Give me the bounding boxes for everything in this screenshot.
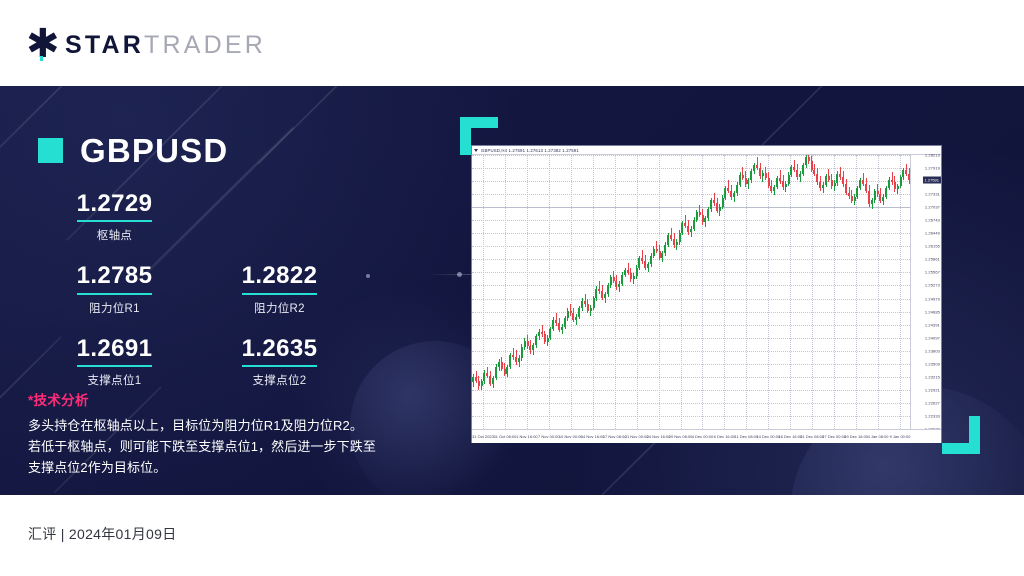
candle [765,155,767,429]
candle [739,155,741,429]
time-axis-tick: 31 Oct 08:00 [493,434,516,439]
analysis-line: 多头持仓在枢轴点以上，目标位为阻力位R1及阻力位R2。 [28,415,408,436]
brand-logo[interactable]: ✱ STARTRADER [26,30,266,60]
candle [805,155,807,429]
star-asterisk-icon: ✱ [26,30,56,60]
level-label: 阻力位R1 [38,300,191,316]
candle [879,155,881,429]
candle [581,155,583,429]
candle [747,155,749,429]
candle [564,155,566,429]
time-axis-tick: 29 Dec 16:00 [844,434,868,439]
square-marker-icon [38,138,63,163]
candle [868,155,870,429]
brand-name-light: TRADER [144,31,266,59]
candle [590,155,592,429]
page-title: GBPUSD [80,134,228,167]
candle [541,155,543,429]
current-price-tag: 1.27591 [923,176,941,183]
candle [836,155,838,429]
candle [475,155,477,429]
candle [653,155,655,429]
candle [839,155,841,429]
candle [641,155,643,429]
candle [762,155,764,429]
price-axis-tick: 1.26155 [925,244,940,249]
time-axis-tick: 10 Nov 00:00 [559,434,583,439]
candle [811,155,813,429]
price-axis-tick: 1.27919 [925,166,940,171]
time-axis-tick: 21 Nov 00:00 [625,434,649,439]
candle [831,155,833,429]
price-axis-tick: 1.28213 [925,153,940,158]
technical-analysis: *技术分析 多头持仓在枢轴点以上，目标位为阻力位R1及阻力位R2。 若低于枢轴点… [28,389,408,478]
candle [722,155,724,429]
price-axis-tick: 1.25567 [925,270,940,275]
candle [813,155,815,429]
price-axis-tick: 1.23509 [925,361,940,366]
level-resistance-2: 1.2822 阻力位R2 [203,263,356,315]
candle [871,155,873,429]
price-axis-tick: 1.26743 [925,218,940,223]
level-label: 支撑点位2 [203,372,356,388]
footer-bar: 汇评 | 2024年01月09日 [0,495,1024,576]
price-axis-tick: 1.23215 [925,374,940,379]
time-axis-tick: 29 Nov 08:00 [669,434,693,439]
candle [512,155,514,429]
candle [578,155,580,429]
candle [894,155,896,429]
price-axis-tick: 1.26449 [925,231,940,236]
time-axis[interactable]: 31 Oct 202331 Oct 08:001 Nov 16:007 Nov … [472,429,941,443]
candle [808,155,810,429]
candle [900,155,902,429]
level-value: 1.2822 [242,263,318,294]
price-axis-tick: 1.27331 [925,192,940,197]
candle [851,155,853,429]
price-axis-tick: 1.22921 [925,387,940,392]
candle [859,155,861,429]
candle [664,155,666,429]
level-label: 枢轴点 [38,227,191,243]
candle [681,155,683,429]
candle [552,155,554,429]
time-axis-tick: 24 Nov 16:00 [647,434,671,439]
candle [874,155,876,429]
candle [570,155,572,429]
candle [785,155,787,429]
level-value: 1.2635 [242,336,318,367]
candle [636,155,638,429]
candle [796,155,798,429]
candle [753,155,755,429]
candle [607,155,609,429]
candle [521,155,523,429]
time-axis-tick: 31 Oct 2023 [472,434,494,439]
level-resistance-1: 1.2785 阻力位R1 [38,263,191,315]
candle [905,155,907,429]
price-axis-tick: 1.24391 [925,322,940,327]
candle [561,155,563,429]
candle [572,155,574,429]
price-axis-tick: 1.24097 [925,335,940,340]
candle [819,155,821,429]
candle [776,155,778,429]
chart-body: 1.282131.279191.276251.273311.270371.267… [472,155,941,429]
brand-name-bold: STAR [65,31,144,59]
candle [498,155,500,429]
price-axis-tick: 1.23803 [925,348,940,353]
level-support-2: 1.2635 支撑点位2 [203,336,356,388]
price-axis-tick: 1.27037 [925,205,940,210]
candle [885,155,887,429]
candle [481,155,483,429]
candle [730,155,732,429]
time-axis-tick: 4 Jan 08:00 [868,434,889,439]
candle [707,155,709,429]
candle [828,155,830,429]
candle [644,155,646,429]
price-axis-tick: 1.25273 [925,283,940,288]
levels-group: 1.2729 枢轴点 1.2785 阻力位R1 1.2822 阻力位R2 1.2… [38,191,368,388]
candle [693,155,695,429]
analysis-heading: *技术分析 [28,389,408,409]
candle [770,155,772,429]
candle [713,155,715,429]
candle [862,155,864,429]
candle [524,155,526,429]
candle [742,155,744,429]
candle [604,155,606,429]
candle [567,155,569,429]
price-axis-tick: 1.24979 [925,296,940,301]
price-axis-tick: 1.22627 [925,400,940,405]
time-axis-tick: 4 Dec 00:00 [692,434,714,439]
price-axis-tick: 1.22333 [925,413,940,418]
candle [773,155,775,429]
candlestick-plot[interactable] [472,155,910,429]
candle [647,155,649,429]
candle [595,155,597,429]
candle [659,155,661,429]
candle [587,155,589,429]
candle [799,155,801,429]
price-chart-card[interactable]: GBPUSD,H4 1.27591 1.27613 1.27382 1.2759… [471,145,942,443]
candle [544,155,546,429]
candle [527,155,529,429]
candle [902,155,904,429]
top-bar: ✱ STARTRADER [0,0,1024,86]
level-label: 支撑点位1 [38,372,191,388]
candle [768,155,770,429]
candle [538,155,540,429]
candle [687,155,689,429]
candle [865,155,867,429]
candle [624,155,626,429]
time-axis-tick: 17 Nov 08:00 [603,434,627,439]
candle [615,155,617,429]
candle [478,155,480,429]
candle [724,155,726,429]
pair-title-row: GBPUSD [38,134,228,167]
level-pivot: 1.2729 枢轴点 [38,191,191,243]
candle [834,155,836,429]
candle [486,155,488,429]
candle [501,155,503,429]
chart-header-text: GBPUSD,H4 1.27591 1.27613 1.27382 1.2759… [481,148,579,153]
level-support-1: 1.2691 支撑点位1 [38,336,191,388]
price-axis-tick: 1.24685 [925,309,940,314]
candle [518,155,520,429]
candle [877,155,879,429]
candle [584,155,586,429]
candle [690,155,692,429]
candle [842,155,844,429]
candle [472,155,474,429]
candle [848,155,850,429]
candle [793,155,795,429]
candle [532,155,534,429]
candle [601,155,603,429]
candle [650,155,652,429]
candle [492,155,494,429]
candle [816,155,818,429]
candle [549,155,551,429]
candle [638,155,640,429]
candle [676,155,678,429]
candle [699,155,701,429]
candle [854,155,856,429]
caret-down-icon [474,149,478,152]
candle [888,155,890,429]
time-axis-tick: 6 Dec 16:00 [714,434,736,439]
candle [610,155,612,429]
analysis-line: 若低于枢轴点，则可能下跌至支撑点位1，然后进一步下跌至 [28,436,408,457]
candle [727,155,729,429]
candle [529,155,531,429]
candle [504,155,506,429]
candle [891,155,893,429]
candle [483,155,485,429]
candle [822,155,824,429]
candle [575,155,577,429]
time-axis-tick: 18 Dec 16:00 [778,434,802,439]
time-axis-tick: 1 Nov 16:00 [516,434,538,439]
candle [756,155,758,429]
candle [845,155,847,429]
candle [630,155,632,429]
time-axis-tick: 9 Jan 00:00 [890,434,911,439]
time-axis-tick: 11 Dec 08:00 [735,434,758,439]
candle [673,155,675,429]
candle [696,155,698,429]
candle [558,155,560,429]
brand-wordmark: STARTRADER [65,33,266,58]
candle [613,155,615,429]
candle [716,155,718,429]
candle [593,155,595,429]
level-label: 阻力位R2 [203,300,356,316]
candle [495,155,497,429]
analysis-line: 支撑点位2作为目标位。 [28,457,408,478]
time-axis-tick: 14 Nov 16:00 [581,434,605,439]
candle [547,155,549,429]
corner-bracket-icon [942,416,980,454]
price-axis[interactable]: 1.282131.279191.276251.273311.270371.267… [910,155,941,429]
candle [788,155,790,429]
candle [633,155,635,429]
candle [621,155,623,429]
time-axis-tick: 14 Dec 00:00 [756,434,780,439]
candle [856,155,858,429]
candle [515,155,517,429]
candle [759,155,761,429]
candle [719,155,721,429]
candle [745,155,747,429]
candle [750,155,752,429]
candle [897,155,899,429]
candle [667,155,669,429]
candle [489,155,491,429]
level-value: 1.2785 [77,263,153,294]
candle [882,155,884,429]
candle [736,155,738,429]
candle [555,155,557,429]
candle [710,155,712,429]
decor-streak [258,86,387,165]
chart-header: GBPUSD,H4 1.27591 1.27613 1.27382 1.2759… [472,146,941,155]
candle [627,155,629,429]
candle [509,155,511,429]
footer-caption: 汇评 | 2024年01月09日 [28,524,177,544]
candle [679,155,681,429]
decor-streak [0,86,27,211]
level-value: 1.2729 [77,191,153,222]
candle [782,155,784,429]
time-axis-tick: 21 Dec 08:00 [800,434,824,439]
candle [684,155,686,429]
candle [535,155,537,429]
candle [670,155,672,429]
time-axis-tick: 7 Nov 00:00 [538,434,560,439]
candle [733,155,735,429]
candle [598,155,600,429]
candle [506,155,508,429]
candle [661,155,663,429]
level-value: 1.2691 [77,336,153,367]
candle [779,155,781,429]
price-axis-tick: 1.25861 [925,257,940,262]
candle [825,155,827,429]
candle [702,155,704,429]
candle [802,155,804,429]
candle [704,155,706,429]
candle [656,155,658,429]
candle [790,155,792,429]
candle [618,155,620,429]
time-axis-tick: 27 Dec 00:00 [822,434,846,439]
